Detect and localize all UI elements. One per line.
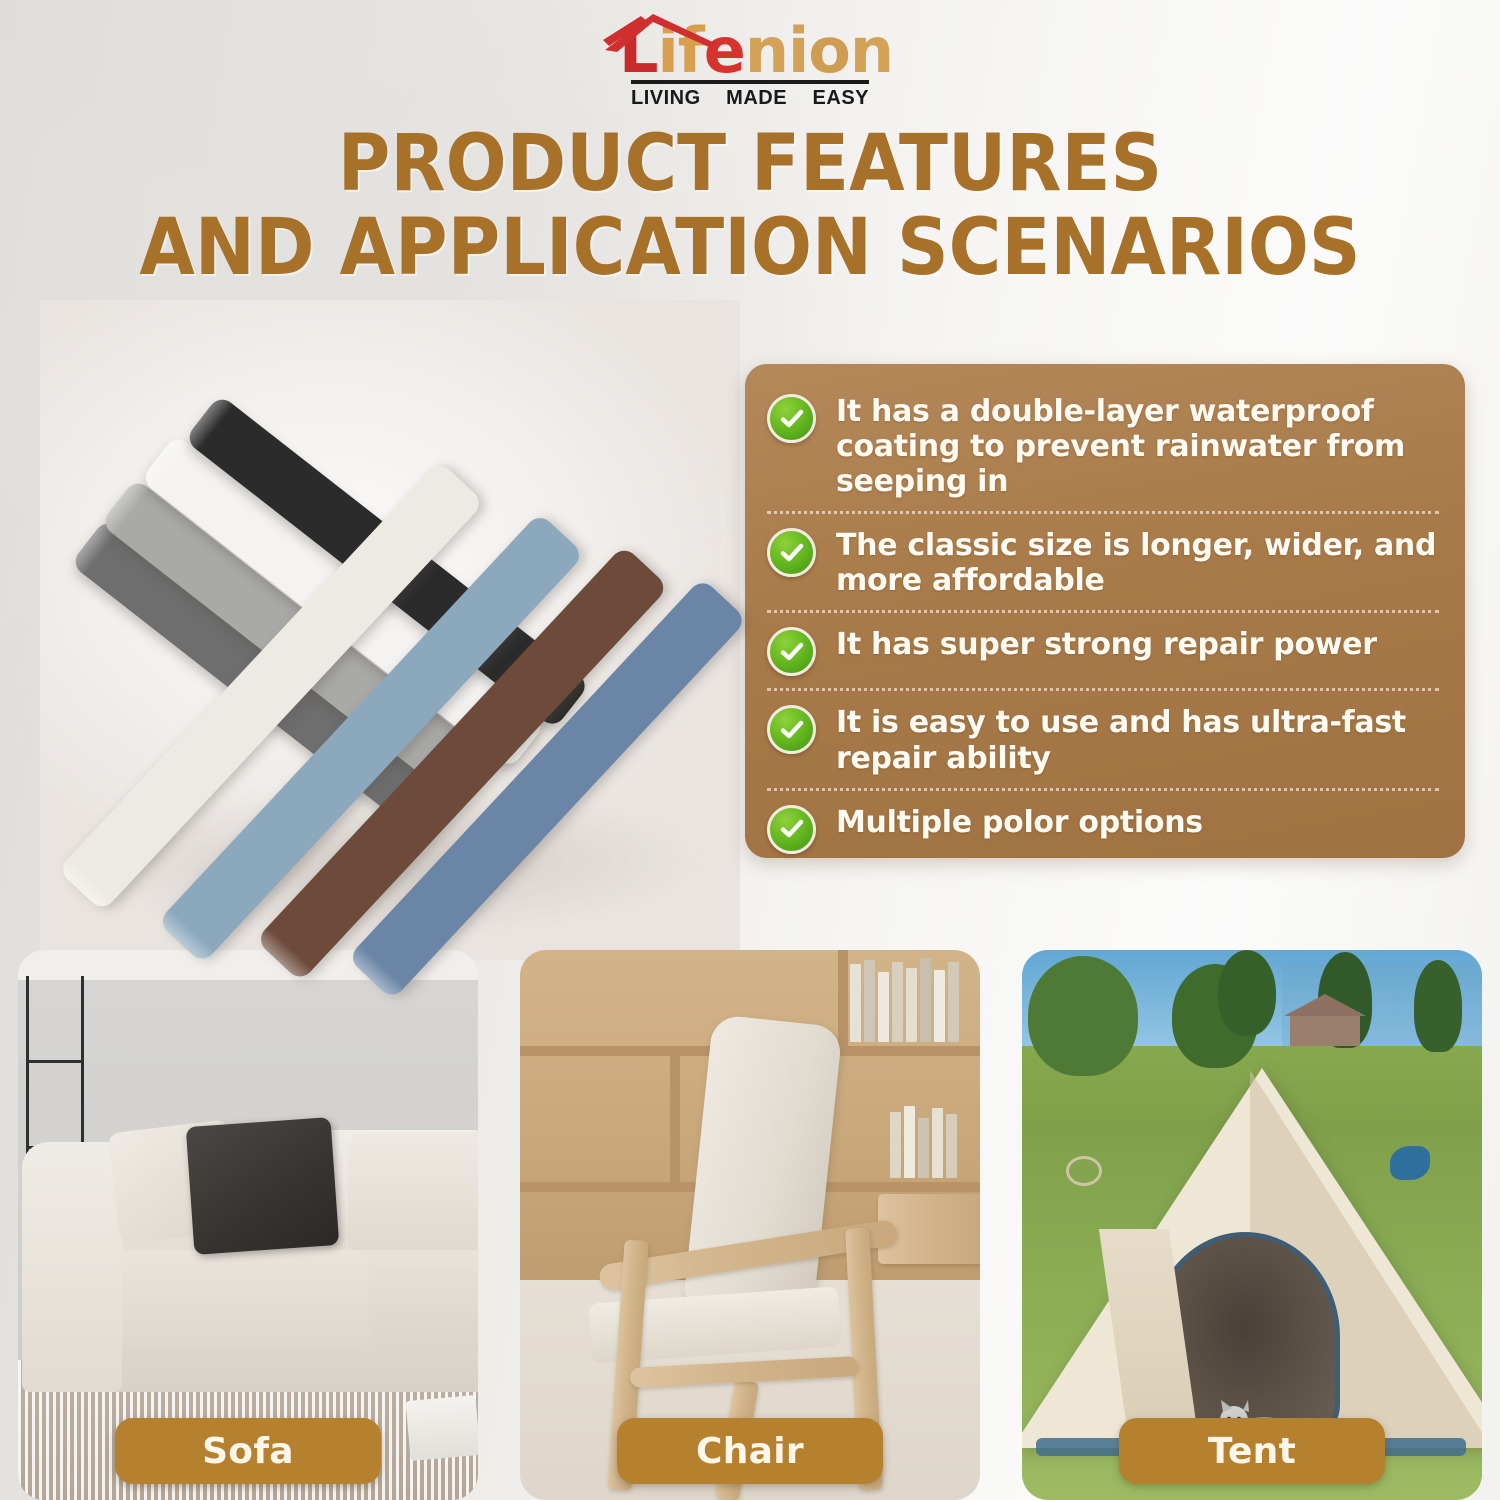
tree (1028, 956, 1138, 1076)
sofa-backrest-right (348, 1132, 478, 1250)
pine-tree (1414, 960, 1462, 1052)
tagline-word-made: MADE (726, 87, 787, 110)
book (948, 962, 959, 1042)
tagline-word-living: LIVING (631, 87, 701, 110)
sofa-seat-cushion (118, 1250, 368, 1350)
feature-item: It has a double-layer waterproof coating… (767, 380, 1439, 511)
scene-label-sofa: Sofa (115, 1418, 381, 1484)
check-icon (767, 705, 816, 754)
sofa-seat-cushion-right (373, 1250, 478, 1350)
sofa-armrest (22, 1142, 122, 1392)
feature-text: The classic size is longer, wider, and m… (836, 526, 1439, 598)
title-line-1: PRODUCT FEATURES (60, 126, 1440, 202)
feature-item: It has super strong repair power (767, 610, 1439, 688)
book (918, 1118, 929, 1178)
check-icon (767, 528, 816, 577)
tagline-word-easy: EASY (813, 87, 869, 110)
book (906, 968, 917, 1042)
tent-brand-badge (1390, 1146, 1430, 1180)
feature-item: Multiple polor options (767, 788, 1439, 866)
check-icon (767, 627, 816, 676)
tape-roll-group (40, 300, 740, 960)
book (932, 1108, 943, 1178)
book (890, 1112, 901, 1178)
throw-pillow-dark (186, 1117, 340, 1255)
pine-tree (1218, 950, 1276, 1036)
book (850, 964, 861, 1042)
book (878, 972, 889, 1042)
check-icon (767, 805, 816, 854)
feature-item: It is easy to use and has ultra-fast rep… (767, 688, 1439, 787)
magazine-stack (406, 1395, 478, 1461)
logo-wordmark: Lifenion (607, 8, 893, 82)
infographic-page: Lifenion LIVING MADE EASY PRODUCT FEATUR… (0, 0, 1500, 1500)
title-line-2: AND APPLICATION SCENARIOS (60, 210, 1440, 286)
book (946, 1114, 957, 1178)
book-row (890, 1102, 957, 1178)
logo-tagline: LIVING MADE EASY (631, 87, 869, 110)
product-photo (40, 300, 740, 960)
cabin (1290, 1012, 1360, 1046)
scene-label-tent: Tent (1119, 1418, 1385, 1484)
page-title: PRODUCT FEATURES AND APPLICATION SCENARI… (0, 126, 1500, 287)
feature-text: It has super strong repair power (836, 625, 1377, 662)
feature-text: Multiple polor options (836, 803, 1203, 840)
tent-logo-mark (1066, 1156, 1102, 1186)
book (892, 962, 903, 1042)
shelf-divider (838, 950, 848, 1046)
book (864, 960, 875, 1042)
feature-item: The classic size is longer, wider, and m… (767, 511, 1439, 610)
book (920, 958, 931, 1042)
scene-card-tent: Tent (1022, 950, 1482, 1500)
brand-logo: Lifenion LIVING MADE EASY (0, 8, 1500, 114)
book-row (850, 958, 959, 1042)
feature-panel: It has a double-layer waterproof coating… (745, 364, 1465, 858)
scene-card-sofa: Sofa (18, 950, 478, 1500)
logo-text: Lifenion (607, 20, 893, 82)
scene-card-chair: Chair (520, 950, 980, 1500)
scene-label-chair: Chair (617, 1418, 883, 1484)
feature-text: It is easy to use and has ultra-fast rep… (836, 703, 1439, 775)
book (904, 1106, 915, 1178)
shelf-divider (670, 1046, 680, 1182)
feature-text: It has a double-layer waterproof coating… (836, 392, 1439, 499)
book (934, 970, 945, 1042)
cabin-roof (1284, 994, 1366, 1016)
window-mullion (26, 1060, 84, 1063)
check-icon (767, 394, 816, 443)
